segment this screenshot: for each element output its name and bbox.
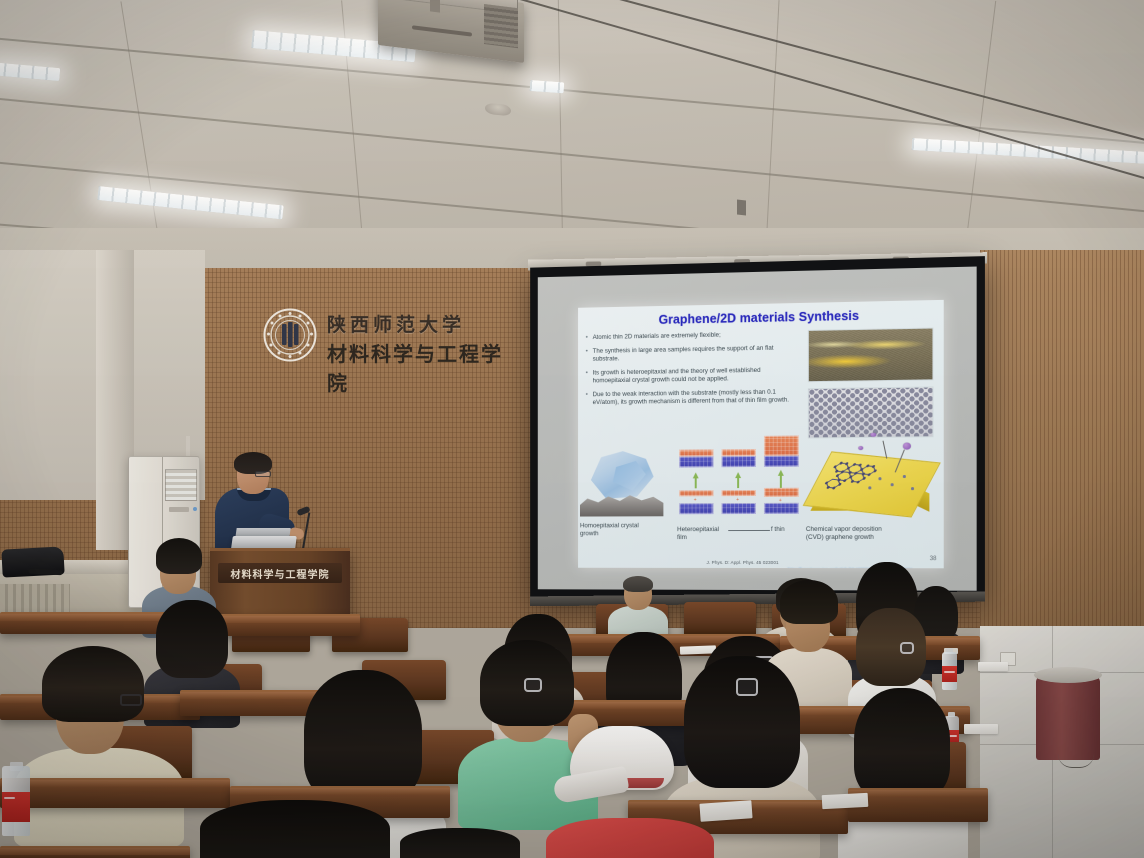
audience-member [838,688,968,858]
venue-wall-sign: 陕西师范大学 材料科学与工程学院 [263,304,513,378]
lectern-sign-text: 材料科学与工程学院 [231,566,330,581]
ceiling-light [97,186,283,219]
slide-title: Graphene/2D materials Synthesis [586,307,936,328]
precursor-molecule [870,433,876,437]
bullet-text: Atomic thin 2D materials are extremely f… [593,330,800,342]
figure-overlay-text: f thin [771,526,785,534]
slide-citation: J. Phys. D: Appl. Phys. 45 023001 [707,560,779,565]
rippled-graphene-sheet-image [808,328,934,383]
homoepitaxial-crystal-figure: Homoepitaxial crystal growth [580,447,663,538]
lecture-hall-photo: 陕西师范大学 材料科学与工程学院 Graphene/2D materials S… [0,0,1144,858]
ceiling-light [912,138,1144,165]
bullet-marker-icon: • [586,334,588,342]
round-side-podium [1036,676,1100,760]
audience-member [608,578,668,640]
presenter-laptop [231,536,297,548]
university-emblem-icon [263,308,317,362]
water-bottle [2,762,30,840]
projection-surface: Graphene/2D materials Synthesis • Atomic… [538,267,977,591]
slide-bullet: • Atomic thin 2D materials are extremely… [586,330,800,343]
precursor-molecule [858,446,863,450]
lectern-sign: 材料科学与工程学院 [218,563,342,583]
paper-sheet [978,662,1008,671]
slide-bullet: • Its growth is heteroepitaxial and the … [586,366,800,386]
audience-member [400,828,520,858]
notebook [699,800,752,822]
desk [0,846,190,858]
hair-clip [736,678,758,696]
desk [848,788,988,822]
crystal-image [580,447,663,523]
bullet-marker-icon: • [586,348,588,364]
presentation-slide: Graphene/2D materials Synthesis • Atomic… [578,300,944,568]
ceiling-hook [737,200,746,216]
cvd-diagram [806,436,938,530]
audience-member-with-cap [560,726,700,858]
smoke-detector-icon [485,103,511,117]
black-bag [1,546,64,577]
bullet-text: Its growth is heteroepitaxial and the th… [593,366,800,386]
ceiling-wire [612,0,1144,168]
ceiling-wire [520,0,1144,193]
hair-clip [900,642,914,654]
cvd-growth-figure: Chemical vapor deposition (CVD) graphene… [806,436,938,542]
heteroepitaxy-diagram: + + + [677,442,804,525]
ac-grille-icon [165,469,197,501]
figure-caption: Heteroepitaxial film [677,526,728,542]
figure-caption: Homoepitaxial crystal growth [580,522,658,538]
slide-bullet: • Due to the weak interaction with the s… [586,388,800,407]
heteroepitaxial-film-figure: + + + Heteroepitaxial film f thin [677,442,804,543]
wood-panel-wall-right [980,250,1144,670]
projector-mount-arm [430,0,440,13]
water-bottle [942,648,957,690]
bullet-text: The synthesis in large area samples requ… [593,344,800,364]
glasses-icon [255,471,271,477]
ceiling-light [530,80,565,93]
honeycomb-lattice-image [808,386,934,438]
hair-clip [524,678,542,692]
projection-screen: Graphene/2D materials Synthesis • Atomic… [530,256,985,601]
paper-sheet [822,793,869,809]
bullet-text: Due to the weak interaction with the sub… [593,388,800,407]
cap-brim [552,766,629,804]
ac-power-indicator [193,507,197,511]
ceiling [0,0,1144,258]
paper-sheet [964,724,998,734]
audience-member [200,800,390,858]
ceiling-light [0,62,60,81]
bullet-marker-icon: • [586,391,588,407]
chair[interactable] [684,602,756,636]
figure-overlay-rule [728,530,770,531]
audience-member [14,652,184,842]
slide-figure-row: Homoepitaxial crystal growth [578,444,944,564]
glasses-icon [120,694,142,706]
desk [0,778,230,808]
venue-sign-main: 陕西师范大学 [327,310,465,337]
slide-bullet: • The synthesis in large area samples re… [586,344,800,364]
venue-sign-sub: 材料科学与工程学院 [327,338,513,396]
bullet-marker-icon: • [586,370,588,386]
slide-bullet-list: • Atomic thin 2D materials are extremely… [586,330,800,407]
